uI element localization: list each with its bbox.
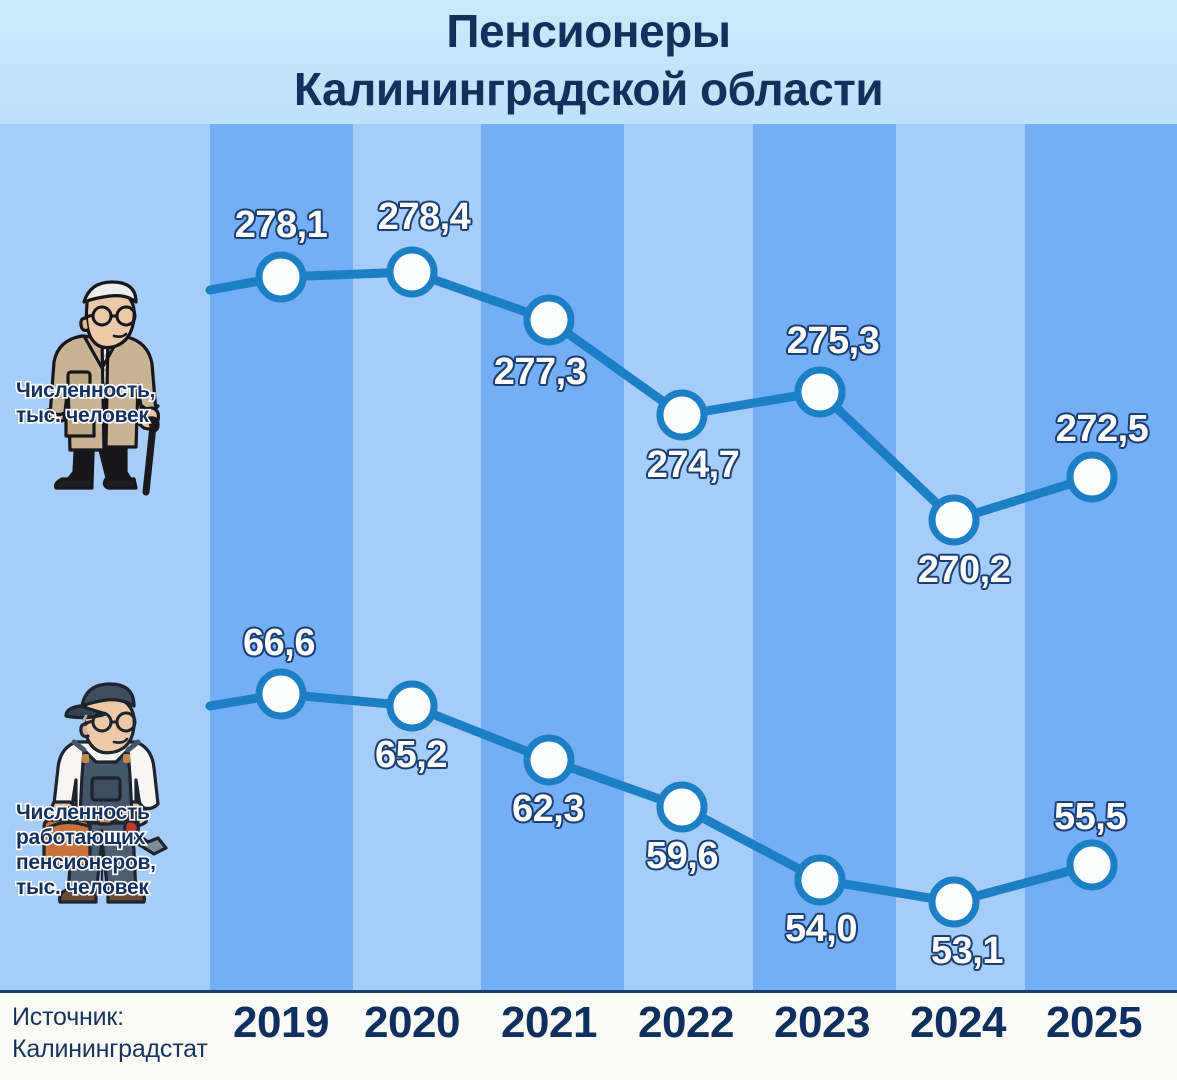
value-working-2021: 62,3 bbox=[512, 790, 584, 828]
footer-bar: Источник: Калининградстат 2019 2020 2021… bbox=[0, 990, 1177, 1080]
series-label-working: Численность работающих пенсионеров, тыс.… bbox=[16, 800, 196, 900]
value-total-2022: 274,7 bbox=[647, 446, 740, 484]
marker-total-2021[interactable] bbox=[527, 298, 571, 342]
marker-total-2023[interactable] bbox=[798, 370, 842, 414]
value-working-2019: 66,6 bbox=[243, 624, 315, 662]
value-total-2021: 277,3 bbox=[494, 353, 587, 391]
marker-working-2025[interactable] bbox=[1070, 843, 1114, 887]
x-axis-tick-2024: 2024 bbox=[910, 997, 1006, 1049]
value-total-2020: 278,4 bbox=[378, 198, 471, 236]
x-axis-tick-2021: 2021 bbox=[501, 997, 597, 1049]
marker-working-2024[interactable] bbox=[932, 880, 976, 924]
x-axis-tick-2025: 2025 bbox=[1046, 997, 1142, 1049]
value-working-2023: 54,0 bbox=[785, 910, 857, 948]
x-axis-tick-2022: 2022 bbox=[638, 997, 734, 1049]
source-note: Источник: Калининградстат bbox=[12, 1001, 208, 1065]
infographic-root: Пенсионеры Калининградской области bbox=[0, 0, 1177, 1080]
marker-working-2022[interactable] bbox=[660, 785, 704, 829]
value-total-2025: 272,5 bbox=[1056, 410, 1149, 448]
page-title-line-2: Калининградской области bbox=[0, 60, 1177, 118]
series-label-working-line-2: работающих bbox=[16, 826, 145, 849]
marker-total-2022[interactable] bbox=[660, 393, 704, 437]
marker-total-2025[interactable] bbox=[1070, 455, 1114, 499]
value-working-2024: 53,1 bbox=[931, 932, 1003, 970]
value-total-2019: 278,1 bbox=[235, 206, 328, 244]
value-working-2022: 59,6 bbox=[646, 837, 718, 875]
marker-total-2019[interactable] bbox=[259, 255, 303, 299]
x-axis-tick-2019: 2019 bbox=[233, 997, 329, 1049]
value-total-2024: 270,2 bbox=[918, 551, 1011, 589]
series-label-total-line-2: тыс. человек bbox=[16, 404, 149, 427]
source-value: Калининградстат bbox=[12, 1033, 208, 1065]
x-axis-tick-2020: 2020 bbox=[364, 997, 460, 1049]
value-working-2025: 55,5 bbox=[1054, 798, 1126, 836]
page-title: Пенсионеры Калининградской области bbox=[0, 2, 1177, 118]
value-total-2023: 275,3 bbox=[787, 322, 880, 360]
marker-total-2020[interactable] bbox=[390, 250, 434, 294]
series-label-working-line-1: Численность bbox=[16, 801, 150, 824]
marker-working-2020[interactable] bbox=[390, 684, 434, 728]
marker-working-2019[interactable] bbox=[259, 672, 303, 716]
value-working-2020: 65,2 bbox=[375, 736, 447, 774]
x-axis-tick-2023: 2023 bbox=[774, 997, 870, 1049]
series-label-total: Численность, тыс. человек bbox=[16, 378, 196, 428]
page-title-line-1: Пенсионеры bbox=[0, 2, 1177, 60]
marker-working-2023[interactable] bbox=[798, 858, 842, 902]
marker-working-2021[interactable] bbox=[527, 738, 571, 782]
series-label-working-line-4: тыс. человек bbox=[16, 876, 149, 899]
series-label-total-line-1: Численность, bbox=[16, 379, 155, 402]
source-label: Источник: bbox=[12, 1001, 208, 1033]
series-label-working-line-3: пенсионеров, bbox=[16, 851, 156, 874]
marker-total-2024[interactable] bbox=[932, 498, 976, 542]
